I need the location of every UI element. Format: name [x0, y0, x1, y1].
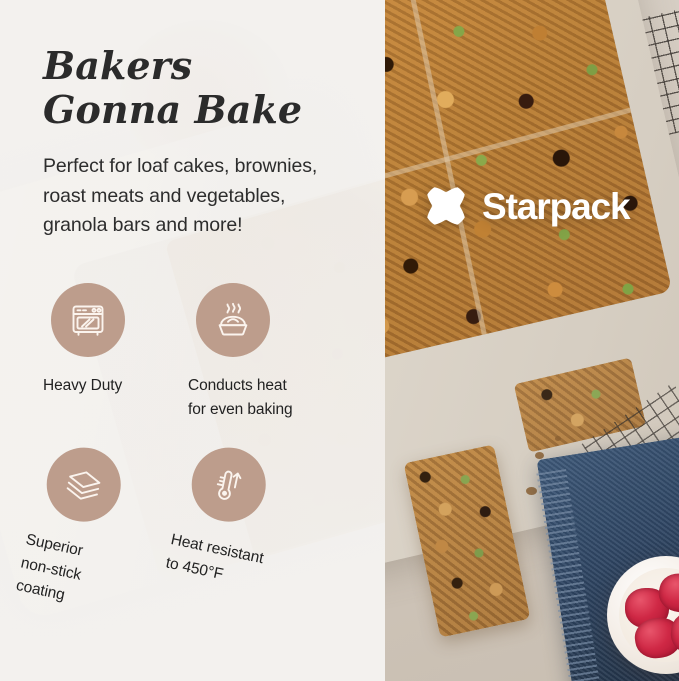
brand-name: Starpack — [482, 188, 630, 225]
product-photo-panel: Starpack — [385, 0, 679, 681]
crumb — [555, 436, 561, 441]
headline-line-2: Gonna Bake — [43, 88, 385, 132]
feature-label-line-1: Conducts heat — [188, 374, 363, 398]
thermometer-up-icon — [204, 460, 254, 510]
bowl-interior — [619, 568, 679, 662]
feature-label-line-2: for even baking — [188, 398, 363, 422]
crumb — [526, 487, 537, 495]
left-copy-panel: Bakers Gonna Bake Perfect for loaf cakes… — [0, 0, 385, 681]
starpack-star-logo-icon — [423, 183, 469, 229]
subheadline-line-1: Perfect for loaf cakes, brownies, — [43, 152, 385, 182]
granola-bake-photo — [385, 0, 679, 681]
headline-line-1: Bakers — [43, 44, 385, 88]
feature-icon-badge — [51, 283, 125, 357]
steaming-pie-icon — [212, 299, 254, 341]
feature-heat-resistant: Heat resistant to 450°F — [185, 439, 234, 485]
subheadline-line-2: roast meats and vegetables, — [43, 182, 385, 212]
feature-label: Heat resistant to 450°F — [164, 528, 215, 583]
page-title: Bakers Gonna Bake — [43, 44, 385, 132]
feature-label: Conducts heat for even baking — [188, 374, 363, 421]
subheadline: Perfect for loaf cakes, brownies, roast … — [43, 152, 385, 241]
product-feature-image: Bakers Gonna Bake Perfect for loaf cakes… — [0, 0, 679, 681]
layers-icon — [59, 460, 109, 510]
oven-icon — [67, 299, 109, 341]
crumb — [535, 452, 544, 459]
feature-icon-badge — [196, 283, 270, 357]
feature-label: Heavy Duty — [43, 374, 188, 398]
feature-label-line-1: Heavy Duty — [43, 374, 188, 398]
feature-conducts-heat: Conducts heat for even baking — [188, 283, 363, 421]
brand-lockup: Starpack — [423, 183, 630, 229]
subheadline-line-3: granola bars and more! — [43, 211, 385, 241]
feature-grid: Heavy Duty — [43, 283, 363, 481]
headline-block: Bakers Gonna Bake Perfect for loaf cakes… — [0, 0, 385, 241]
feature-non-stick-coating: Superior non-stick coating — [40, 439, 89, 485]
feature-heavy-duty: Heavy Duty — [43, 283, 188, 421]
